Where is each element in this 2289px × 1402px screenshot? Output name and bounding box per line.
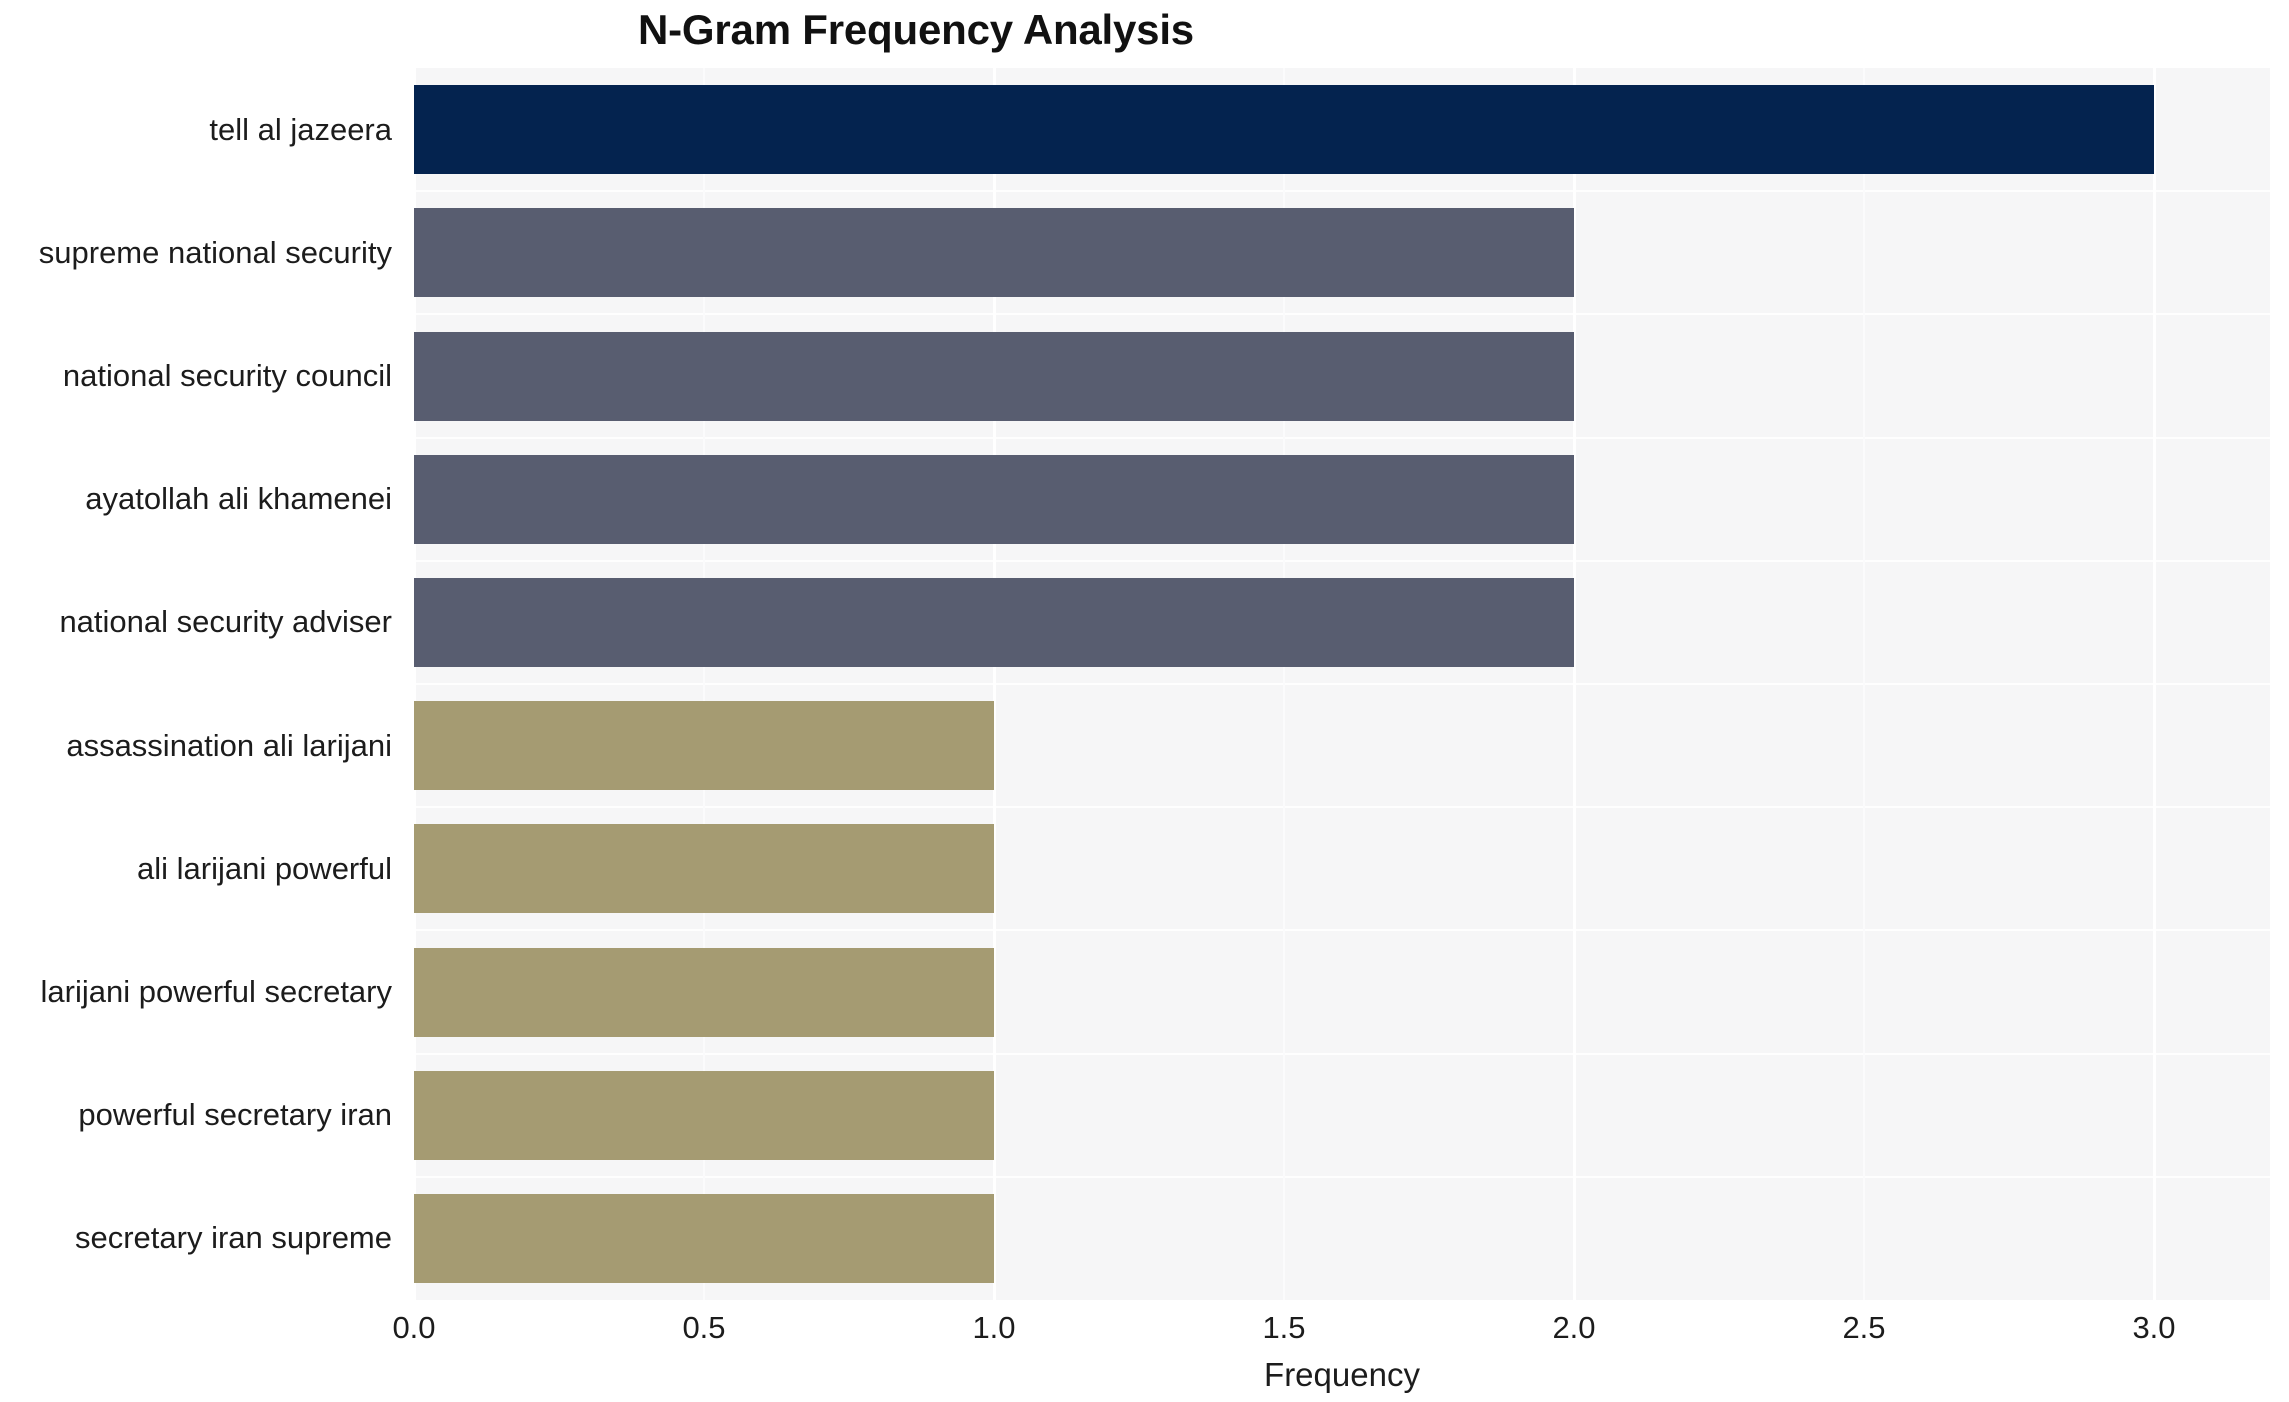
gridline-horizontal	[414, 683, 2270, 685]
gridline-vertical	[2153, 68, 2156, 1300]
gridline-horizontal	[414, 929, 2270, 931]
x-axis-tick-label: 3.0	[2132, 1312, 2175, 1343]
bar	[414, 824, 994, 913]
bar	[414, 701, 994, 790]
y-axis-tick-label: national security adviser	[59, 606, 392, 637]
x-axis-label: Frequency	[414, 1358, 2270, 1391]
chart-figure: N-Gram Frequency Analysis tell al jazeer…	[0, 0, 2289, 1402]
gridline-horizontal	[414, 437, 2270, 439]
gridline-horizontal	[414, 806, 2270, 808]
y-axis-tick-label: ali larijani powerful	[137, 853, 392, 884]
y-axis-tick-label: ayatollah ali khamenei	[85, 483, 392, 514]
y-axis-tick-label: larijani powerful secretary	[41, 976, 392, 1007]
bar	[414, 85, 2154, 174]
y-axis-tick-label: national security council	[63, 360, 392, 391]
y-axis-tick-label: assassination ali larijani	[66, 730, 392, 761]
bar	[414, 578, 1574, 667]
x-axis-tick-label: 0.0	[392, 1312, 435, 1343]
gridline-horizontal	[414, 560, 2270, 562]
bar	[414, 948, 994, 1037]
x-axis-tick-label: 1.0	[972, 1312, 1015, 1343]
x-axis-tick-label: 2.5	[1842, 1312, 1885, 1343]
x-axis-tick-label: 0.5	[682, 1312, 725, 1343]
y-axis-tick-label: powerful secretary iran	[78, 1099, 392, 1130]
gridline-horizontal	[414, 1053, 2270, 1055]
x-axis-tick-label: 2.0	[1552, 1312, 1595, 1343]
x-axis-tick-label: 1.5	[1262, 1312, 1305, 1343]
y-axis-tick-label: supreme national security	[39, 237, 392, 268]
bar	[414, 1194, 994, 1283]
chart-title: N-Gram Frequency Analysis	[0, 6, 1832, 54]
bar	[414, 332, 1574, 421]
plot-area	[414, 68, 2270, 1300]
gridline-horizontal	[414, 313, 2270, 315]
bar	[414, 455, 1574, 544]
gridline-horizontal	[414, 1176, 2270, 1178]
bar	[414, 208, 1574, 297]
gridline-vertical	[1863, 68, 1865, 1300]
y-axis-tick-label: tell al jazeera	[209, 114, 392, 145]
gridline-horizontal	[414, 190, 2270, 192]
bar	[414, 1071, 994, 1160]
y-axis-tick-label: secretary iran supreme	[75, 1222, 392, 1253]
